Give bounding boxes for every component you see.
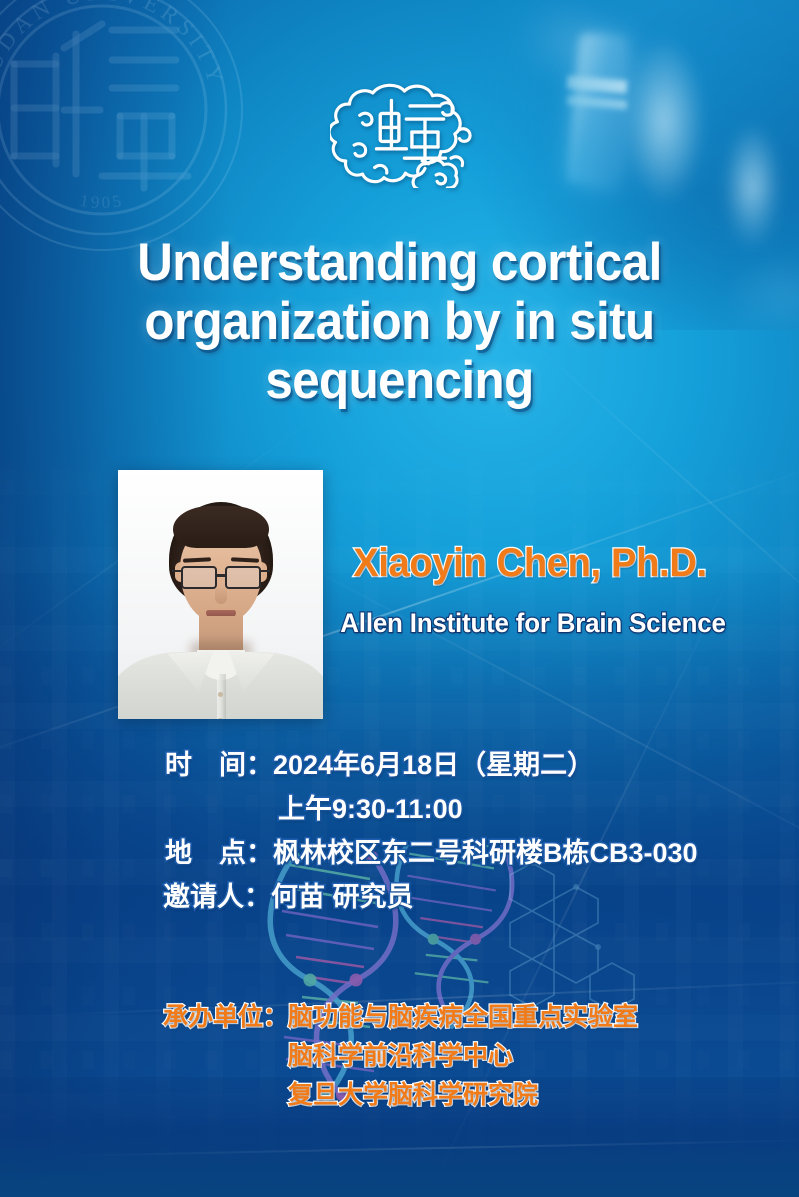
speaker-affiliation: Allen Institute for Brain Science <box>327 606 740 640</box>
seminar-poster: FUDAN UNIVERSITY 1905 <box>0 0 799 1197</box>
detail-location: 地 点：枫林校区东二号科研楼B栋CB3-030 <box>0 831 799 875</box>
fudan-university-seal-icon: FUDAN UNIVERSITY 1905 <box>0 0 252 260</box>
detail-time-hours: 上午9:30-11:00 <box>0 787 799 831</box>
detail-time-date: 时 间：2024年6月18日（星期二） <box>0 743 799 787</box>
svg-text:FUDAN UNIVERSITY: FUDAN UNIVERSITY <box>0 0 230 90</box>
event-details: 时 间：2024年6月18日（星期二） 上午9:30-11:00 地 点：枫林校… <box>0 743 799 919</box>
speaker-portrait-photo <box>118 470 323 719</box>
speaker-name: Xiaoyin Chen, Ph.D. <box>340 540 720 586</box>
organizer-line: 承办单位：脑功能与脑疾病全国重点实验室 <box>0 998 799 1037</box>
brain-logo-icon <box>330 78 492 188</box>
organizers-block: 承办单位：脑功能与脑疾病全国重点实验室 脑科学前沿科学中心 复旦大学脑科学研究院 <box>0 998 799 1115</box>
poster-title: Understanding cortical organization by i… <box>65 233 734 410</box>
svg-text:1905: 1905 <box>78 191 125 212</box>
detail-host: 邀请人：何苗 研究员 <box>0 875 799 919</box>
organizer-line: 复旦大学脑科学研究院 <box>0 1076 799 1115</box>
organizer-line: 脑科学前沿科学中心 <box>0 1037 799 1076</box>
